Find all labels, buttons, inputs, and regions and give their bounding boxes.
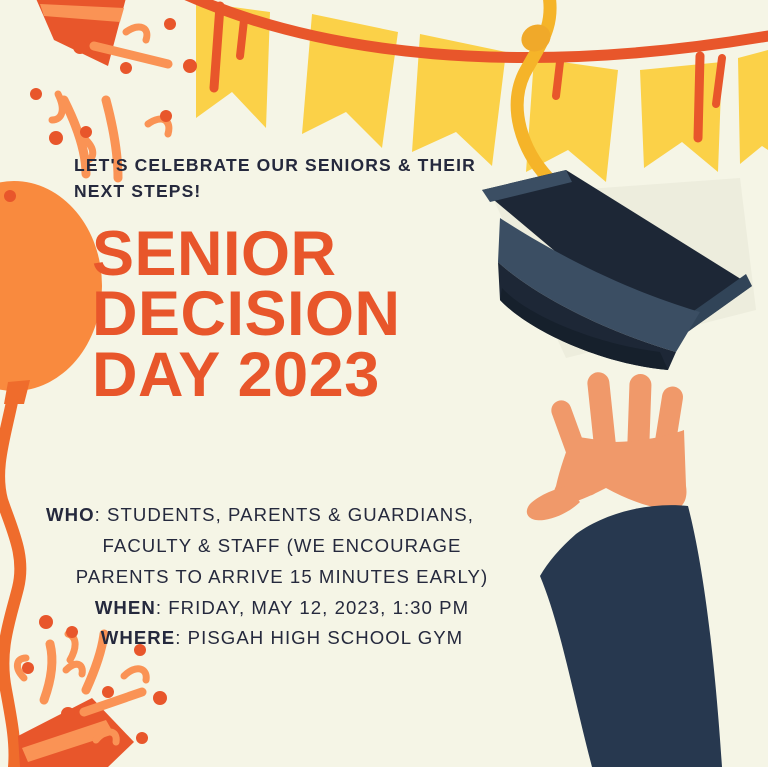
- when-label: WHEN: [95, 597, 156, 618]
- tassel-bead: [517, 19, 556, 56]
- finger-ring: [648, 385, 684, 485]
- confetti-burst-top-left: [30, 0, 197, 178]
- party-popper-stripe: [40, 4, 124, 22]
- poster-artwork: [0, 0, 768, 767]
- sleeve: [540, 505, 722, 767]
- poster-text-content: Let's celebrate our seniors & their next…: [0, 0, 768, 767]
- bunting-string: [180, 0, 768, 58]
- hand-fingers: [549, 371, 685, 498]
- cap-board-edge: [482, 170, 572, 202]
- detail-who-line-2: FACULTY & STAFF (WE ENCOURAGE: [18, 531, 546, 562]
- party-popper-cone: [18, 698, 134, 767]
- detail-where-line: WHERE: PISGAH HIGH SCHOOL GYM: [18, 623, 546, 654]
- bunting-flag: [196, 2, 270, 128]
- poster-canvas: Let's celebrate our seniors & their next…: [0, 0, 768, 767]
- cap-band: [498, 218, 700, 352]
- bunting-flag: [302, 14, 398, 148]
- hand-palm: [554, 430, 687, 510]
- cap-board: [482, 170, 752, 346]
- bunting-decoration: [180, 0, 768, 182]
- title-line-3: Day 2023: [92, 345, 562, 405]
- cap-board-edge-right: [664, 274, 752, 346]
- finger-middle: [626, 374, 652, 479]
- tassel-cord-line: [517, 0, 550, 178]
- confetti-streaks: [17, 634, 146, 742]
- confetti-dots: [30, 18, 197, 145]
- balloon-body: [0, 181, 102, 391]
- cap-crown-shade: [500, 288, 668, 370]
- balloon-string: [0, 402, 20, 767]
- balloon-knot: [4, 380, 30, 404]
- detail-who-line: WHO: STUDENTS, PARENTS & GUARDIANS,: [18, 500, 546, 531]
- when-text: : FRIDAY, MAY 12, 2023, 1:30 PM: [156, 597, 469, 618]
- who-text-1: : STUDENTS, PARENTS & GUARDIANS,: [95, 504, 474, 525]
- confetti-streaks: [52, 27, 169, 178]
- party-popper-cone: [34, 0, 126, 66]
- graduation-cap: [482, 170, 756, 370]
- poster-subtitle: Let's celebrate our seniors & their next…: [74, 152, 524, 205]
- event-details: WHO: STUDENTS, PARENTS & GUARDIANS, FACU…: [18, 500, 546, 654]
- bunting-flag: [412, 34, 506, 166]
- title-line-2: Decision: [92, 284, 562, 344]
- finger-pinky: [549, 398, 602, 499]
- bunting-accents: [214, 6, 722, 138]
- bunting-flag: [738, 50, 768, 164]
- where-text: : PISGAH HIGH SCHOOL GYM: [175, 627, 463, 648]
- raised-hand: [527, 371, 722, 767]
- confetti-dots: [22, 615, 167, 744]
- tassel-cord: [517, 0, 556, 178]
- balloon-highlight-dot: [4, 190, 16, 202]
- title-line-1: Senior: [92, 224, 562, 284]
- balloon-decoration: [0, 181, 102, 767]
- detail-who-line-3: PARENTS TO ARRIVE 15 MINUTES EARLY): [18, 562, 546, 593]
- detail-when-line: WHEN: FRIDAY, MAY 12, 2023, 1:30 PM: [18, 593, 546, 624]
- bunting-flag: [526, 58, 618, 182]
- hand-thumb: [527, 486, 580, 520]
- bunting-flag: [640, 62, 722, 172]
- bunting-flags: [196, 2, 768, 182]
- finger-index: [586, 371, 619, 483]
- where-label: WHERE: [101, 627, 175, 648]
- cap-crown: [498, 262, 676, 370]
- confetti-burst-bottom-left: [17, 615, 167, 767]
- poster-title: Senior Decision Day 2023: [92, 224, 562, 405]
- party-popper-stripe: [22, 720, 114, 762]
- who-label: WHO: [46, 504, 95, 525]
- cap-shadow: [492, 178, 756, 358]
- background: [0, 0, 768, 767]
